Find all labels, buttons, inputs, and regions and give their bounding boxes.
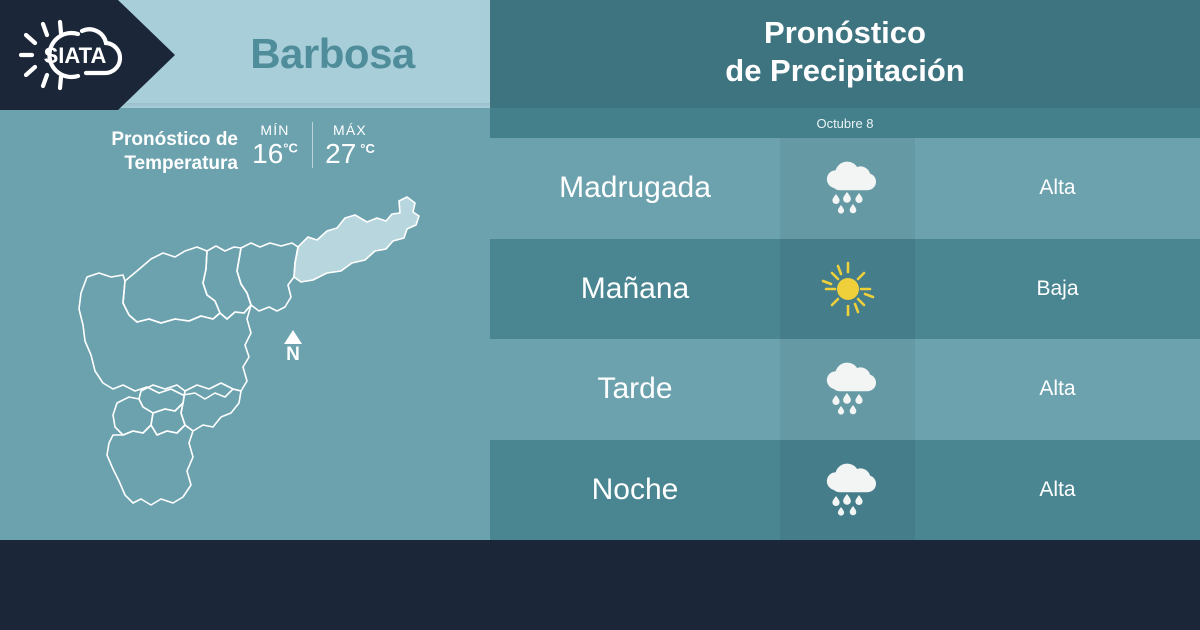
temperature-title: Pronóstico de Temperatura [60, 122, 238, 176]
forecast-title: Pronóstico de Precipitación [490, 14, 1200, 91]
map-municipality-barbosa[interactable] [294, 197, 419, 282]
map-municipality-caldas[interactable] [107, 425, 193, 505]
forecast-date: Octubre 8 [490, 108, 1200, 138]
period-label: Mañana [490, 272, 780, 306]
temperature-summary: Pronóstico de Temperatura MÍN 16°C MÁX 2… [60, 122, 440, 186]
city-title: Barbosa [175, 0, 490, 108]
north-arrow: N [278, 330, 308, 378]
min-value-wrap: 16°C [238, 140, 312, 168]
map-municipality-bello[interactable] [123, 247, 220, 323]
weather-forecast-poster: SIATA Barbosa Pronóstico de Temperatura … [0, 0, 1200, 630]
temperature-panel: SIATA Barbosa Pronóstico de Temperatura … [0, 0, 490, 540]
rain-cloud-icon [816, 359, 880, 419]
map-municipality-girardota[interactable] [237, 243, 298, 311]
max-value-wrap: 27°C [313, 140, 387, 168]
sun-cloud-icon: SIATA [16, 18, 134, 92]
rain-cloud-icon [816, 158, 880, 218]
sun-icon [816, 259, 880, 319]
siata-logo-text: SIATA [44, 43, 107, 68]
probability-label: Alta [915, 377, 1200, 401]
forecast-rows: Madrugada Alta [490, 138, 1200, 540]
min-temperature: MÍN 16°C [238, 122, 312, 168]
max-temperature: MÁX 27°C [312, 122, 387, 168]
forecast-title-line2: de Precipitación [490, 52, 1200, 90]
probability-label: Baja [915, 277, 1200, 301]
temperature-title-line2: Temperatura [60, 152, 238, 176]
weather-icon-cell [780, 138, 915, 239]
rain-cloud-icon [816, 460, 880, 520]
weather-icon-cell [780, 339, 915, 440]
weather-icon-cell [780, 440, 915, 541]
precipitation-panel: Pronóstico de Precipitación Octubre 8 Ma… [490, 0, 1200, 540]
probability-label: Alta [915, 478, 1200, 502]
footer-bar: @siatamedellin www.siata.gov.co Con el a… [0, 540, 1200, 630]
temperature-title-line1: Pronóstico de [60, 128, 238, 152]
north-arrow-icon [284, 330, 302, 344]
min-unit: °C [283, 141, 298, 156]
period-label: Noche [490, 473, 780, 507]
table-row[interactable]: Noche Alta [490, 440, 1200, 541]
map-municipality-copacabana[interactable] [203, 246, 251, 319]
weather-icon-cell [780, 239, 915, 340]
aburra-valley-map[interactable] [55, 185, 455, 535]
table-row[interactable]: Mañana [490, 239, 1200, 340]
max-unit: °C [360, 141, 375, 156]
north-label: N [286, 345, 300, 364]
map-municipality-medellin[interactable] [79, 273, 251, 399]
table-row[interactable]: Tarde Alta [490, 339, 1200, 440]
max-value: 27 [325, 138, 356, 169]
period-label: Tarde [490, 372, 780, 406]
min-value: 16 [252, 138, 283, 169]
period-label: Madrugada [490, 171, 780, 205]
forecast-title-line1: Pronóstico [490, 14, 1200, 52]
table-row[interactable]: Madrugada Alta [490, 138, 1200, 239]
probability-label: Alta [915, 176, 1200, 200]
